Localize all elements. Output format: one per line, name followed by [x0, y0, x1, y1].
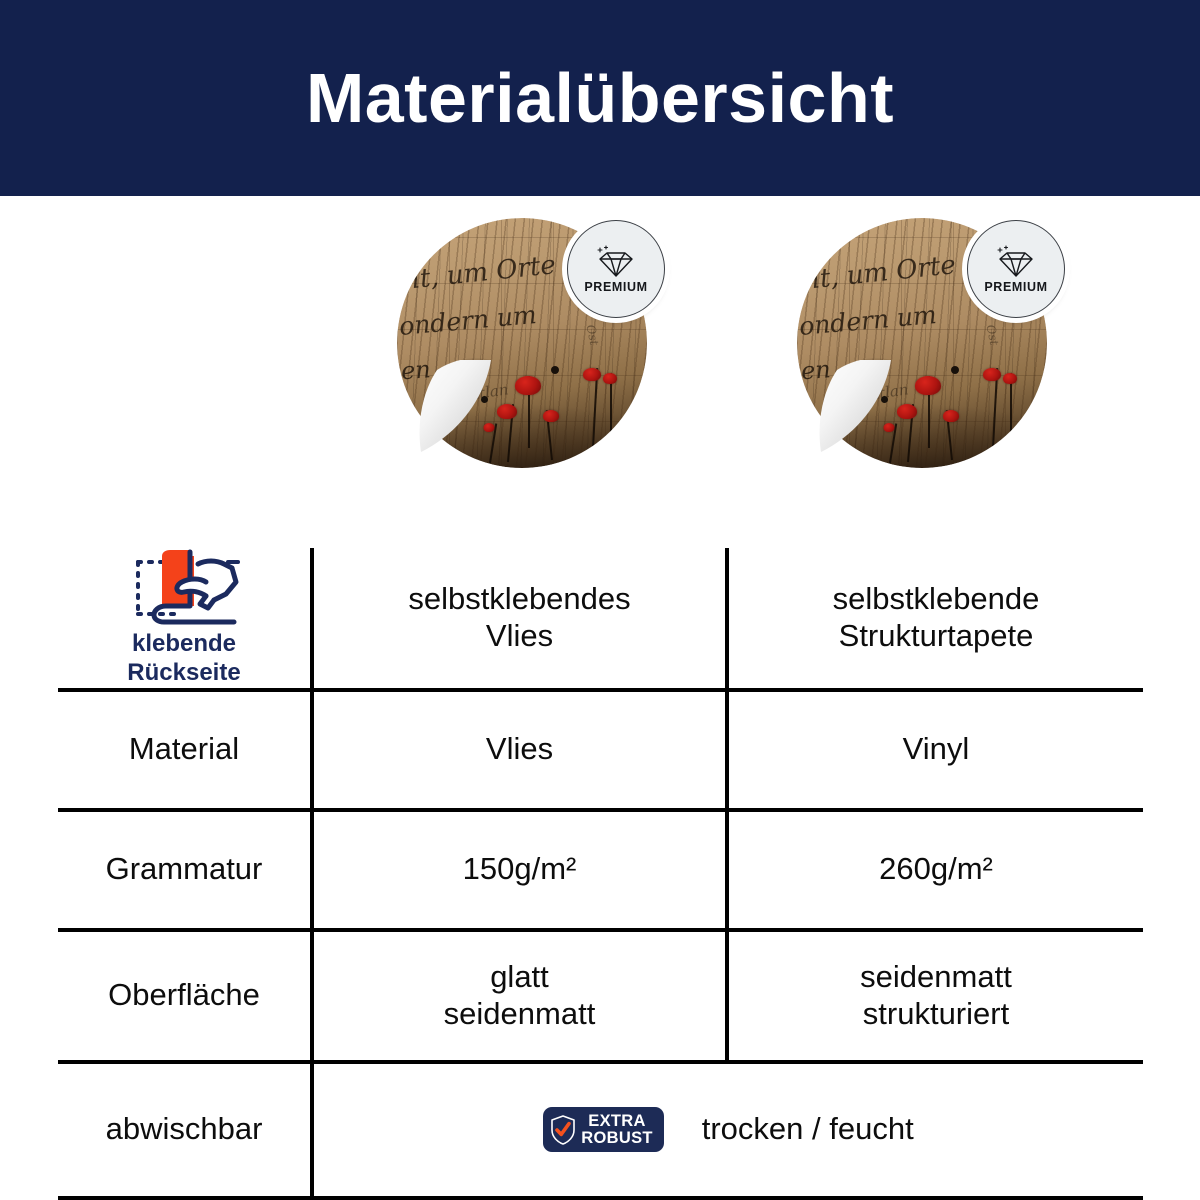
artwork-script-line-1: ht, um Orte — [402, 250, 557, 296]
artwork-script-line-2: ondern um — [398, 300, 538, 341]
table-row: Oberfläche glatt seidenmatt seidenmatt s… — [58, 930, 1143, 1062]
cell-material-vlies: Vlies — [312, 690, 727, 810]
product-preview-row: ht, um Orte ondern um en. Nord Atlan Ost — [0, 196, 1200, 471]
column-header-vlies-line1: selbstklebendes — [314, 581, 725, 618]
table-row: klebende Rückseite selbstklebendes Vlies… — [58, 548, 1143, 690]
extra-robust-line1: EXTRA — [581, 1113, 652, 1130]
product-preview-vlies[interactable]: ht, um Orte ondern um en. Nord Atlan Ost — [397, 218, 657, 468]
sticky-back-cell: klebende Rückseite — [58, 548, 312, 690]
poppy-flower — [943, 410, 959, 460]
poppy-flower — [515, 376, 541, 448]
extra-robust-badge: EXTRA ROBUST — [543, 1107, 663, 1153]
column-header-strukturtapete-line2: Strukturtapete — [729, 618, 1143, 655]
column-header-strukturtapete-line1: selbstklebende — [729, 581, 1143, 618]
poppy-flower — [543, 410, 559, 460]
diamond-icon — [995, 245, 1037, 279]
row-label-oberflaeche: Oberfläche — [58, 930, 312, 1062]
material-comparison-table: klebende Rückseite selbstklebendes Vlies… — [58, 548, 1143, 1200]
cell-oberflaeche-vlies: glatt seidenmatt — [312, 930, 727, 1062]
premium-badge-label: PREMIUM — [584, 281, 647, 294]
cell-material-strukturtapete: Vinyl — [727, 690, 1143, 810]
column-header-vlies-line2: Vlies — [314, 618, 725, 655]
row-label-material: Material — [58, 690, 312, 810]
artwork-script-line-2: ondern um — [798, 300, 938, 341]
abwischbar-value-text: trocken / feucht — [702, 1111, 914, 1148]
premium-badge-label: PREMIUM — [984, 281, 1047, 294]
page-title: Materialübersicht — [306, 63, 894, 133]
table-row: Grammatur 150g/m² 260g/m² — [58, 810, 1143, 930]
cell-oberflaeche-strukturtapete: seidenmatt strukturiert — [727, 930, 1143, 1062]
poppy-flower — [497, 404, 517, 462]
diamond-icon — [595, 245, 637, 279]
poppy-flower — [897, 404, 917, 462]
sticky-back-label: klebende Rückseite — [58, 630, 310, 688]
cell-oberflaeche-vlies-line2: seidenmatt — [314, 996, 725, 1033]
cell-grammatur-vlies: 150g/m² — [312, 810, 727, 930]
poppy-flower — [883, 423, 894, 463]
cell-oberflaeche-strukturtapete-line1: seidenmatt — [729, 959, 1143, 996]
poppy-bud — [481, 396, 488, 403]
product-preview-strukturtapete[interactable]: ht, um Orte ondern um en. Nord Atlan Ost — [797, 218, 1057, 468]
peel-sticker-icon — [128, 548, 240, 626]
shield-check-icon — [550, 1115, 576, 1145]
column-header-vlies: selbstklebendes Vlies — [312, 548, 727, 690]
poppy-bud — [881, 396, 888, 403]
artwork-script-line-1: ht, um Orte — [802, 250, 957, 296]
poppy-flower — [583, 368, 601, 448]
row-label-grammatur: Grammatur — [58, 810, 312, 930]
artwork-script-line-5: Ost — [983, 323, 1001, 346]
sticky-back-label-line2: Rückseite — [58, 659, 310, 688]
premium-badge: PREMIUM — [567, 220, 665, 318]
column-header-strukturtapete: selbstklebende Strukturtapete — [727, 548, 1143, 690]
premium-badge: PREMIUM — [967, 220, 1065, 318]
cell-abwischbar-value: EXTRA ROBUST trocken / feucht — [312, 1062, 1143, 1198]
poppy-bud — [551, 366, 559, 374]
sticky-back-label-line1: klebende — [58, 630, 310, 659]
poppy-flower — [603, 373, 617, 443]
row-label-abwischbar: abwischbar — [58, 1062, 312, 1198]
artwork-script-line-5: Ost — [583, 323, 601, 346]
poppy-flower — [915, 376, 941, 448]
cell-oberflaeche-strukturtapete-line2: strukturiert — [729, 996, 1143, 1033]
poppy-flower — [983, 368, 1001, 448]
page-header-banner: Materialübersicht — [0, 0, 1200, 196]
poppy-flower — [1003, 373, 1017, 443]
table-row: Material Vlies Vinyl — [58, 690, 1143, 810]
poppy-bud — [951, 366, 959, 374]
table-row: abwischbar EXTRA ROBUST trocken / feucht — [58, 1062, 1143, 1198]
extra-robust-line2: ROBUST — [581, 1130, 652, 1147]
cell-oberflaeche-vlies-line1: glatt — [314, 959, 725, 996]
cell-grammatur-strukturtapete: 260g/m² — [727, 810, 1143, 930]
poppy-flower — [483, 423, 494, 463]
